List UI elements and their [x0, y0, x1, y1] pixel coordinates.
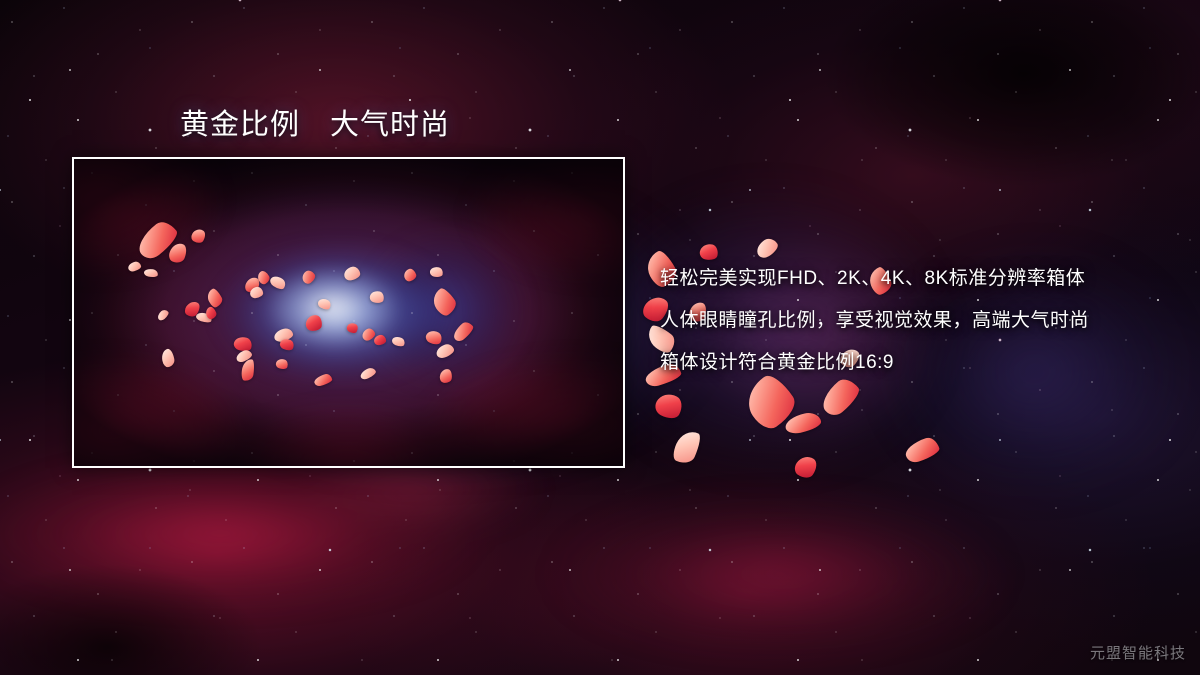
watermark: 元盟智能科技 — [1090, 642, 1186, 663]
petal-shape — [670, 427, 704, 467]
petal-shape — [156, 308, 170, 322]
petal-shape — [275, 357, 290, 370]
petal-shape — [305, 314, 323, 332]
petal-shape — [429, 266, 444, 278]
petal-shape — [753, 235, 780, 260]
presentation-slide: 黄金比例 大气时尚 — [0, 0, 1200, 675]
petal-shape — [369, 289, 385, 304]
frame-nebula-core — [195, 227, 502, 405]
petal-shape — [345, 321, 360, 335]
frame-vignette — [74, 159, 623, 466]
frame-starfield — [74, 159, 623, 466]
petal-shape — [127, 261, 142, 273]
petal-shape — [316, 297, 332, 312]
petal-shape — [143, 268, 158, 278]
petal-shape — [249, 286, 263, 299]
petal-shape — [189, 227, 207, 246]
frame-nebula-base — [74, 159, 623, 466]
petal-shape — [374, 334, 387, 345]
frame-nebula-crimson-rim — [72, 157, 625, 468]
petal-shape — [903, 435, 942, 465]
petal-shape — [402, 267, 417, 282]
petal-shape — [792, 452, 821, 481]
petal-shape — [391, 335, 406, 348]
dark-vignette-bottom-left — [0, 486, 384, 675]
frame-nebula-blue-right — [349, 214, 569, 404]
body-line: 箱体设计符合黄金比例16:9 — [660, 342, 1170, 384]
petal-shape — [300, 268, 318, 285]
petal-shape — [161, 348, 176, 368]
preview-frame-16x9 — [72, 157, 625, 468]
petal-shape — [424, 328, 444, 347]
body-line: 轻松完美实现FHD、2K、4K、8K标准分辨率箱体 — [660, 258, 1170, 300]
petal-shape — [313, 373, 333, 388]
petal-shape — [359, 366, 377, 381]
petal-shape — [450, 319, 475, 343]
petal-shape — [268, 273, 287, 291]
petal-shape — [205, 287, 225, 309]
petal-shape — [439, 368, 453, 384]
body-text-block: 轻松完美实现FHD、2K、4K、8K标准分辨率箱体 人体眼睛瞳孔比例，享受视觉效… — [660, 258, 1170, 384]
petal-shape — [343, 265, 361, 281]
nebula-crimson-wisp-bottom — [480, 446, 1080, 675]
petal-shape — [652, 389, 686, 422]
page-title: 黄金比例 大气时尚 — [180, 101, 450, 143]
dark-vignette-top-right — [696, 0, 1200, 270]
petal-shape — [428, 286, 459, 319]
body-line: 人体眼睛瞳孔比例，享受视觉效果，高端大气时尚 — [660, 300, 1170, 342]
petal-shape — [434, 342, 455, 359]
